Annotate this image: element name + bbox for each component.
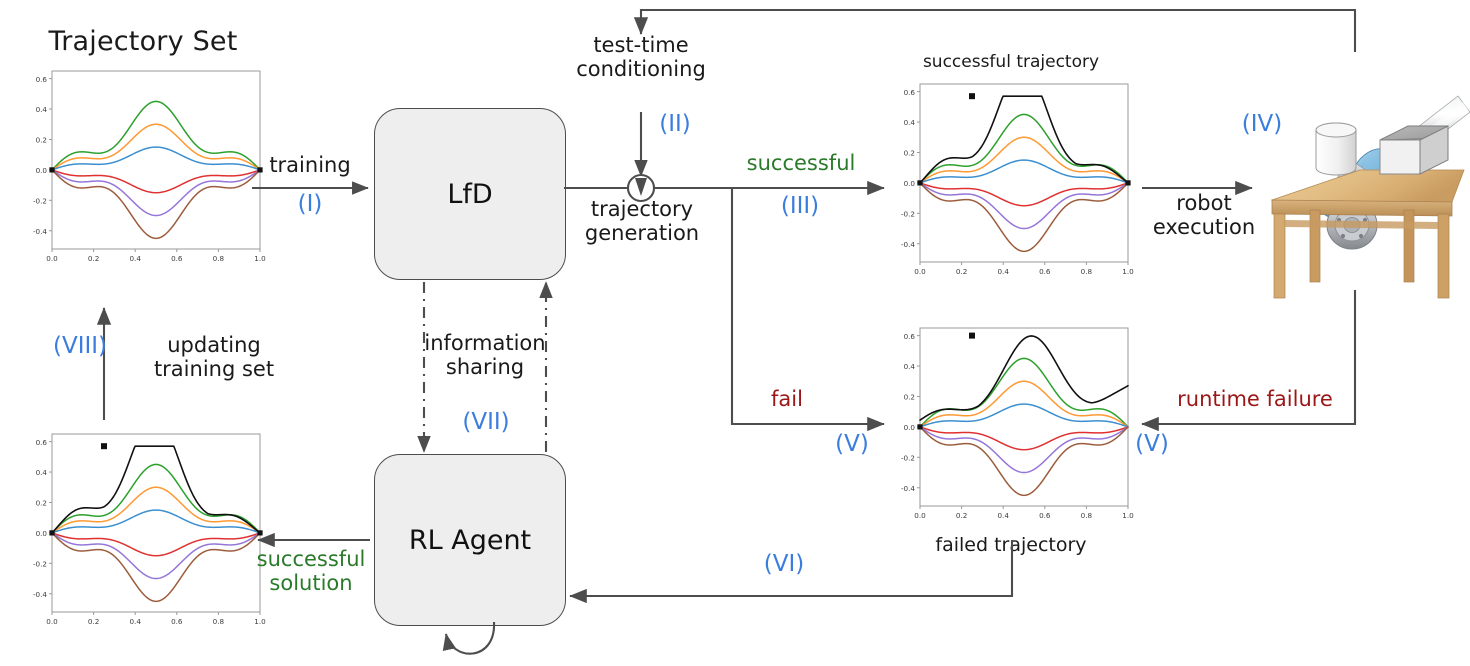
label-test-time-conditioning: test-time conditioning [556,34,726,81]
step-viii: (VIII) [38,334,122,360]
step-v-right: (V) [1120,432,1184,458]
label-trajectory-generation: trajectory generation [556,198,728,245]
label-updating-training-set: updating training set [134,334,294,381]
step-i: (I) [251,192,369,218]
step-ii: (II) [645,112,705,138]
label-robot-execution: robot execution [1140,192,1268,239]
step-v-left: (V) [820,432,884,458]
cube-object [1380,126,1448,174]
edge-top-feedback [641,10,1355,52]
cylinder-object [1316,123,1356,175]
label-successful: successful [722,152,880,176]
label-runtime-failure: runtime failure [1150,388,1360,412]
step-vi: (VI) [746,552,822,578]
edge-rl-self-loop [446,622,494,654]
step-vii: (VII) [448,410,524,436]
robot-scene [1252,20,1470,298]
label-fail: fail [752,388,822,412]
label-training: training [251,154,369,178]
step-iii: (III) [762,194,838,220]
label-information-sharing: information sharing [420,332,550,379]
label-successful-solution: successful solution [248,548,374,595]
